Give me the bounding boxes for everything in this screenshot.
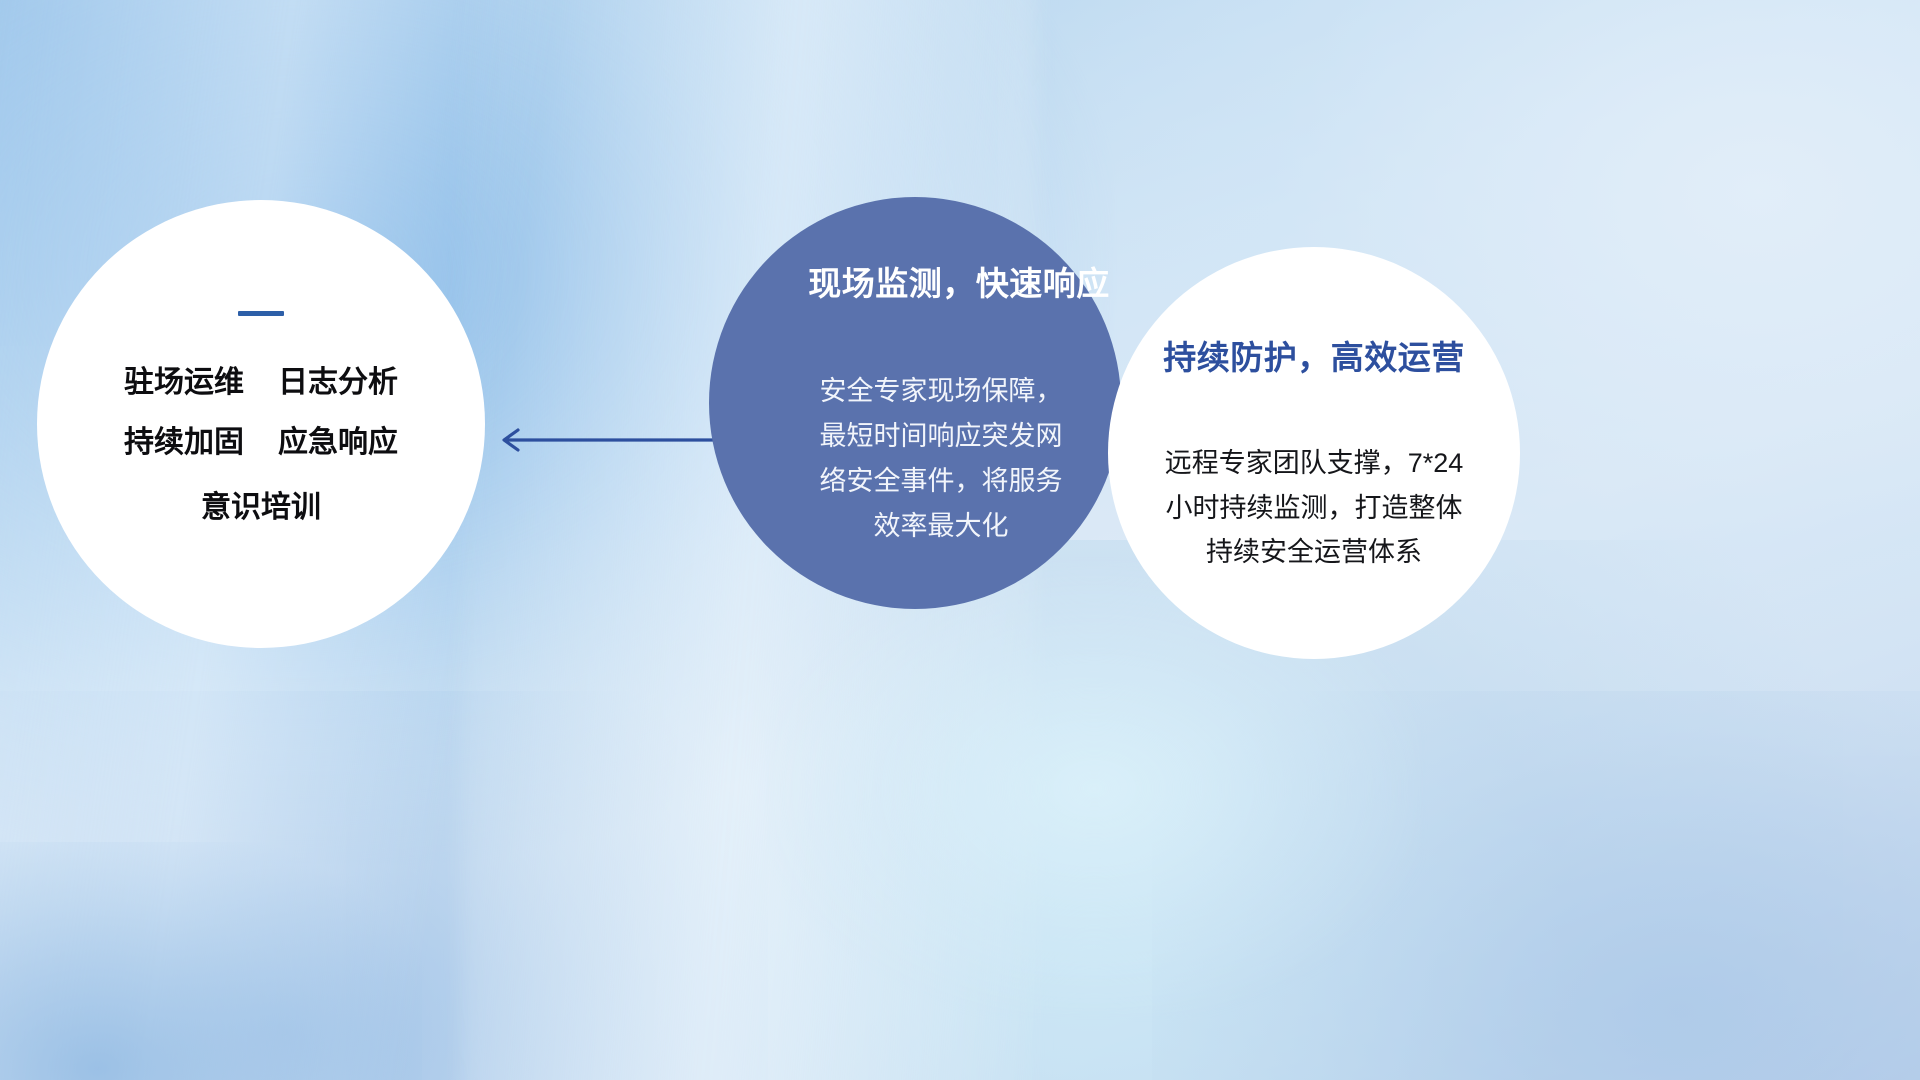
center-body-line: 最短时间响应突发网 <box>791 414 1091 459</box>
center-circle-node[interactable]: 现场监测，快速响应 安全专家现场保障， 最短时间响应突发网 络安全事件，将服务 … <box>709 197 1121 609</box>
dash-divider-icon <box>238 311 284 316</box>
right-body-line: 持续安全运营体系 <box>1138 530 1490 575</box>
center-circle-content: 现场监测，快速响应 安全专家现场保障， 最短时间响应突发网 络安全事件，将服务 … <box>709 257 1121 548</box>
service-tag[interactable]: 应急响应 <box>278 420 398 466</box>
left-circle-content: 驻场运维 日志分析 持续加固 应急响应 意识培训 <box>37 311 485 537</box>
service-tag[interactable]: 日志分析 <box>278 360 398 406</box>
service-tag[interactable]: 持续加固 <box>124 420 244 466</box>
center-circle-body: 安全专家现场保障， 最短时间响应突发网 络安全事件，将服务 效率最大化 <box>791 369 1091 548</box>
right-body-line: 远程专家团队支撑，7*24 <box>1138 441 1490 486</box>
right-circle-content: 持续防护，高效运营 远程专家团队支撑，7*24 小时持续监测，打造整体 持续安全… <box>1108 331 1520 575</box>
center-body-line: 络安全事件，将服务 <box>791 459 1091 504</box>
right-circle-node[interactable]: 持续防护，高效运营 远程专家团队支撑，7*24 小时持续监测，打造整体 持续安全… <box>1108 247 1520 659</box>
diagram-root: 驻场运维 日志分析 持续加固 应急响应 意识培训 现场监测，快速响应 安全专家现… <box>0 0 1920 1080</box>
left-circle-node[interactable]: 驻场运维 日志分析 持续加固 应急响应 意识培训 <box>37 200 485 648</box>
service-tag-row: 驻场运维 日志分析 <box>81 360 441 406</box>
flow-arrow <box>492 418 724 462</box>
service-tag-row: 意识培训 <box>81 485 441 531</box>
right-body-line: 小时持续监测，打造整体 <box>1138 486 1490 531</box>
service-tag[interactable]: 意识培训 <box>201 485 321 531</box>
center-body-line: 效率最大化 <box>791 504 1091 549</box>
right-circle-body: 远程专家团队支撑，7*24 小时持续监测，打造整体 持续安全运营体系 <box>1138 441 1490 575</box>
right-circle-heading: 持续防护，高效运营 <box>1124 331 1504 379</box>
service-tag[interactable]: 驻场运维 <box>124 360 244 406</box>
center-circle-heading: 现场监测，快速响应 <box>763 257 1155 305</box>
center-body-line: 安全专家现场保障， <box>791 369 1091 414</box>
service-tag-row: 持续加固 应急响应 <box>81 420 441 466</box>
